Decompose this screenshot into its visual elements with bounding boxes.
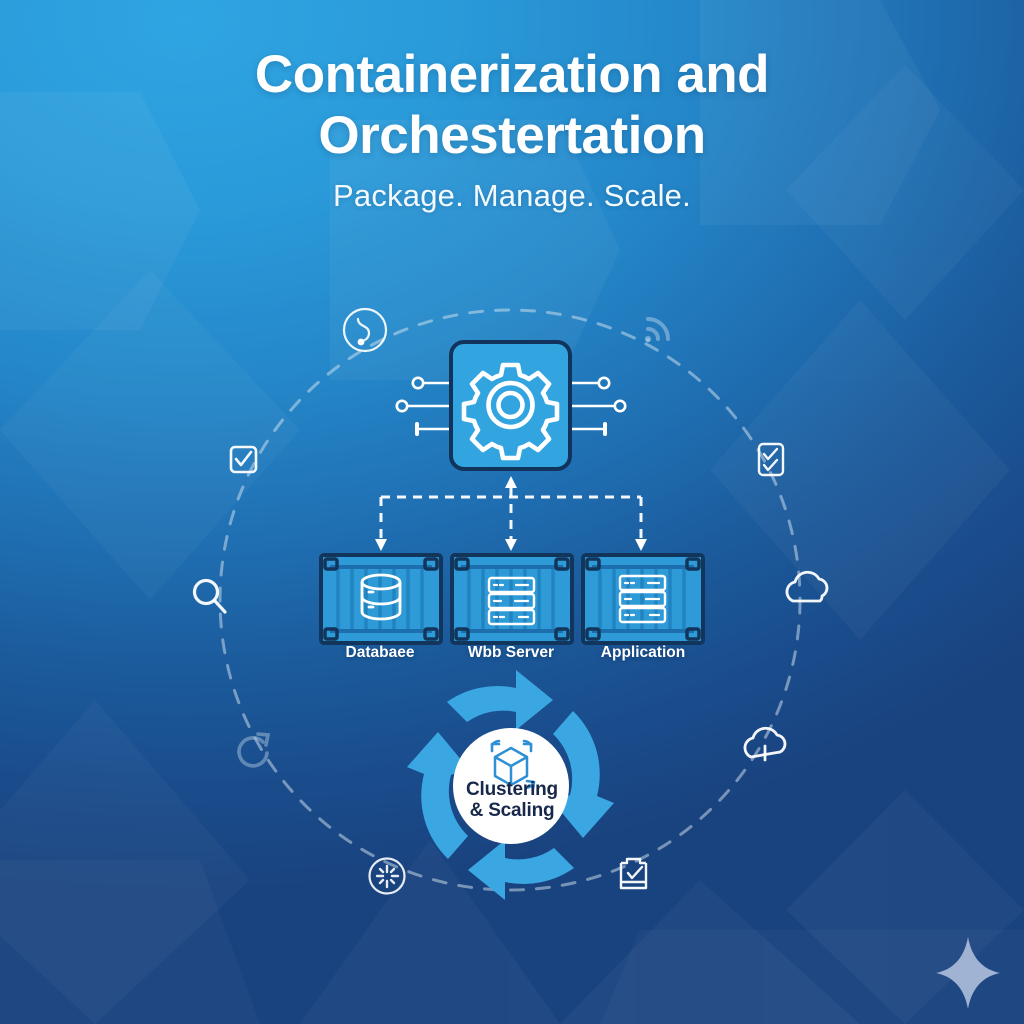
connector-arrowheads [375, 476, 647, 551]
sync-refresh-icon [239, 734, 268, 766]
clustering-hub-label: Clustering & Scaling [452, 779, 572, 822]
arrowhead-down-left [375, 539, 387, 551]
title-line-1: Containerization and [255, 45, 769, 104]
container-box-database[interactable] [321, 555, 441, 643]
node-link-icon [344, 309, 386, 351]
clipboard-check-icon [621, 859, 646, 888]
infographic-canvas: Containerization and Orchestertation Pac… [0, 0, 1024, 1024]
page-subtitle: Package. Manage. Scale. [0, 178, 1024, 214]
cycle-arrow-1 [447, 670, 553, 730]
title-line-2: Orchestertation [0, 105, 1024, 166]
container-ribs-1 [338, 568, 422, 630]
arrowhead-down-right [635, 539, 647, 551]
orchestrator-node[interactable] [397, 342, 625, 469]
container-ribs-3 [600, 568, 684, 630]
container-box-application[interactable] [583, 555, 703, 643]
container-box-web-server[interactable] [452, 555, 572, 643]
cloud-icon [787, 572, 827, 601]
header: Containerization and Orchestertation Pac… [0, 44, 1024, 214]
arrowhead-up [505, 476, 517, 488]
cloud-download-icon [745, 728, 785, 760]
container-label-application: Application [553, 644, 733, 662]
wifi-signal-icon [645, 319, 668, 342]
connector-lines [381, 483, 641, 545]
hub-label-line-1: Clustering [452, 779, 572, 800]
arrowhead-down-center [505, 539, 517, 551]
orchestrator-card [451, 342, 570, 469]
hub-label-line-2: & Scaling [452, 800, 572, 821]
page-title: Containerization and Orchestertation [0, 44, 1024, 167]
